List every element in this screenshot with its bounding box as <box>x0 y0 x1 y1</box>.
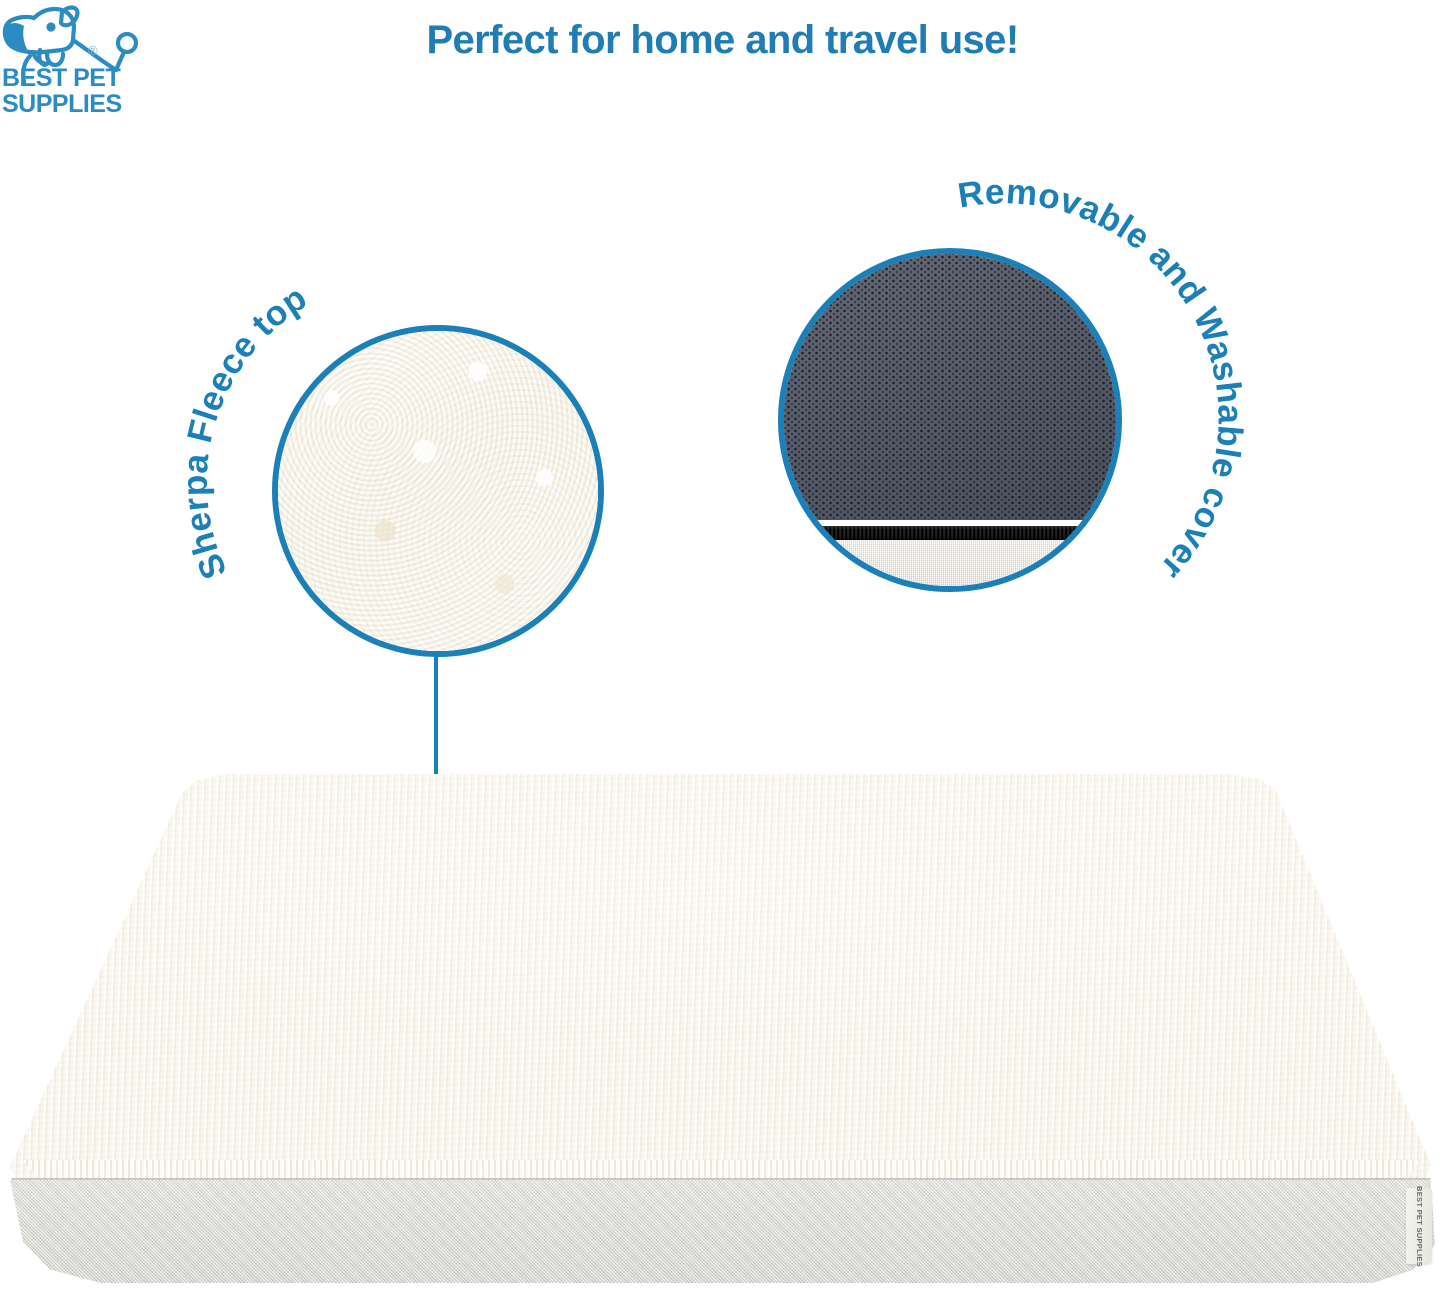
brand-name-line-1: BEST PET <box>2 64 120 92</box>
brand-sewn-tag-text: BEST PET SUPPLIES <box>1415 1186 1424 1267</box>
bed-side-panel <box>0 1180 1445 1292</box>
callout-removable-washable-cover <box>778 248 1122 592</box>
bed-top-surface-fleece <box>0 760 1445 1200</box>
infographic-canvas: ® BEST PET SUPPLIES Perfect for home and… <box>0 0 1445 1292</box>
callout-sherpa-fleece-top <box>272 325 604 657</box>
page-title: Perfect for home and travel use! <box>0 18 1445 63</box>
zipper-icon <box>778 526 1122 540</box>
callout-circle-cover <box>778 248 1122 592</box>
brand-sewn-tag: BEST PET SUPPLIES <box>1406 1188 1432 1264</box>
inner-liner-swatch <box>778 540 1122 592</box>
gray-mesh-fabric-swatch <box>778 248 1122 520</box>
product-dog-bed <box>0 760 1445 1292</box>
brand-name-line-2: SUPPLIES <box>2 90 122 118</box>
callout-circle-sherpa <box>272 325 604 657</box>
sherpa-fleece-swatch <box>272 325 604 657</box>
